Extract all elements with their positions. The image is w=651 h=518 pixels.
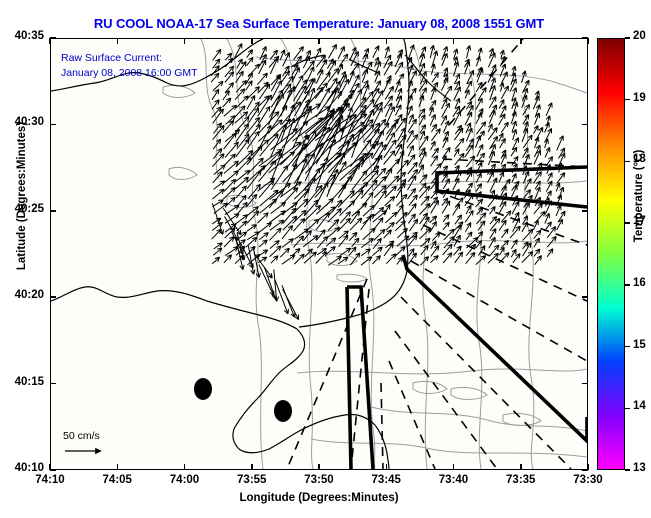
x-axis-tick — [251, 38, 253, 44]
colorbar-tick — [625, 469, 630, 471]
colorbar-tick — [625, 99, 630, 101]
colorbar-tick — [625, 408, 630, 410]
y-axis-tick — [582, 124, 588, 126]
y-axis-tick — [50, 469, 56, 471]
y-axis-label: Latitude (Degrees:Minutes) — [16, 76, 28, 316]
x-axis-tick — [587, 38, 589, 44]
colorbar-tick-label: 15 — [633, 339, 646, 351]
colorbar-tick-label: 13 — [633, 462, 646, 474]
x-tick-label: 73:45 — [356, 474, 416, 486]
annotation-line-1: Raw Surface Current: — [61, 52, 162, 64]
y-axis-tick — [582, 296, 588, 298]
x-axis-tick — [117, 464, 119, 470]
map-graphic — [51, 39, 587, 469]
colorbar-tick — [625, 222, 630, 224]
x-axis-tick — [318, 38, 320, 44]
x-tick-label: 74:10 — [20, 474, 80, 486]
x-axis-tick — [49, 464, 51, 470]
x-axis-tick — [251, 464, 253, 470]
x-axis-tick — [49, 38, 51, 44]
y-axis-tick — [50, 37, 56, 39]
x-axis-tick — [318, 464, 320, 470]
colorbar-tick — [625, 161, 630, 163]
x-axis-tick — [453, 464, 455, 470]
colorbar-tick — [625, 346, 630, 348]
figure-canvas: RU COOL NOAA-17 Sea Surface Temperature:… — [0, 0, 651, 518]
y-axis-tick — [582, 210, 588, 212]
page-title: RU COOL NOAA-17 Sea Surface Temperature:… — [50, 16, 588, 31]
x-axis-tick — [587, 464, 589, 470]
scale-legend-label: 50 cm/s — [63, 430, 100, 442]
colorbar-tick-label: 20 — [633, 30, 646, 42]
plot-area[interactable]: Raw Surface Current: January 08, 2008 16… — [50, 38, 588, 470]
colorbar-title: Temperature (°C) — [633, 106, 645, 286]
y-axis-tick — [50, 383, 56, 385]
x-tick-label: 73:55 — [222, 474, 282, 486]
annotation-line-2: January 08, 2008 16:00 GMT — [61, 67, 198, 79]
x-axis-tick — [453, 38, 455, 44]
y-tick-label: 40:35 — [0, 30, 44, 42]
colorbar-tick — [625, 284, 630, 286]
x-axis-tick — [386, 38, 388, 44]
colorbar-gradient — [597, 38, 625, 470]
x-axis-tick — [184, 38, 186, 44]
x-tick-label: 73:35 — [491, 474, 551, 486]
x-tick-label: 73:30 — [558, 474, 618, 486]
x-tick-label: 73:50 — [289, 474, 349, 486]
colorbar-tick — [625, 37, 630, 39]
y-tick-label: 40:10 — [0, 462, 44, 474]
y-tick-label: 40:15 — [0, 376, 44, 388]
colorbar: 2019181716151413 — [597, 38, 625, 470]
x-axis-tick — [520, 38, 522, 44]
x-tick-label: 74:00 — [155, 474, 215, 486]
x-axis-tick — [386, 464, 388, 470]
x-axis-tick — [184, 464, 186, 470]
x-tick-label: 73:40 — [424, 474, 484, 486]
x-axis-tick — [117, 38, 119, 44]
colorbar-tick-label: 19 — [633, 92, 646, 104]
y-axis-tick — [50, 124, 56, 126]
x-axis-tick — [520, 464, 522, 470]
y-axis-tick — [582, 383, 588, 385]
x-axis-label: Longitude (Degrees:Minutes) — [50, 492, 588, 504]
x-tick-label: 74:05 — [87, 474, 147, 486]
y-axis-tick — [50, 296, 56, 298]
colorbar-tick-label: 14 — [633, 400, 646, 412]
y-axis-tick — [50, 210, 56, 212]
